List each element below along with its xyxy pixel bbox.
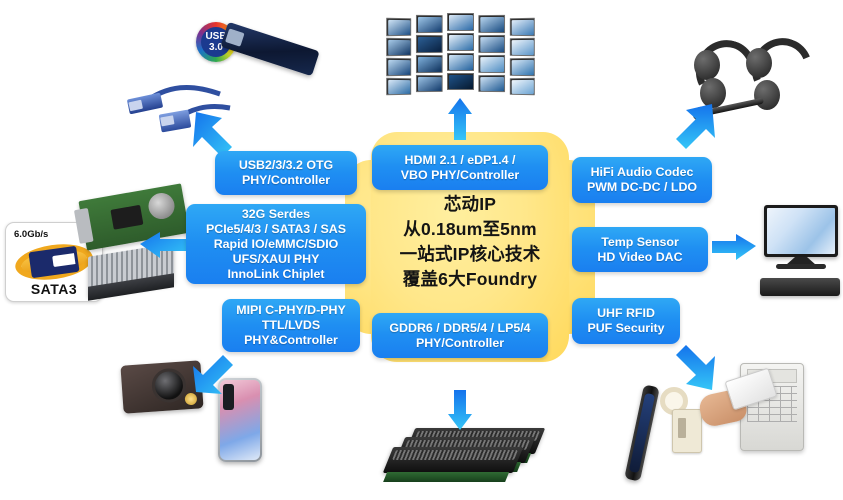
usb-ip-box[interactable]: USB2/3/3.2 OTG PHY/Controller <box>215 151 357 195</box>
serdes-ip-line-3: Rapid IO/eMMC/SDIO <box>206 237 346 252</box>
mipi-ip-line-3: PHY&Controller <box>236 333 345 348</box>
gddr-ip-box[interactable]: GDDR6 / DDR5/4 / LP5/4 PHY/Controller <box>372 313 548 358</box>
gddr-ip-line-1: GDDR6 / DDR5/4 / LP5/4 <box>389 321 530 336</box>
rfid-ip-line-1: UHF RFID <box>587 306 664 321</box>
sensor-ip-box[interactable]: Temp Sensor HD Video DAC <box>572 227 708 272</box>
arrow-up-display <box>448 98 472 140</box>
center-headline: 芯动IP 从0.18um至5nm 一站式IP核心技术 覆盖6大Foundry <box>345 192 595 292</box>
serdes-ip-line-2: PCIe5/4/3 / SATA3 / SAS <box>206 222 346 237</box>
center-line-2: 从0.18um至5nm <box>345 217 595 242</box>
hdmi-ip-line-2: VBO PHY/Controller <box>401 168 519 183</box>
usb-ip-line-2: PHY/Controller <box>239 173 333 188</box>
hdmi-ip-box[interactable]: HDMI 2.1 / eDP1.4 / VBO PHY/Controller <box>372 145 548 190</box>
rfid-ip-line-2: PUF Security <box>587 321 664 336</box>
serdes-ip-line-5: InnoLink Chiplet <box>206 267 346 282</box>
audio-ip-line-1: HiFi Audio Codec <box>587 165 697 180</box>
serdes-ip-line-4: UFS/XAUI PHY <box>206 252 346 267</box>
audio-ip-box[interactable]: HiFi Audio Codec PWM DC-DC / LDO <box>572 157 712 203</box>
rfid-ip-box[interactable]: UHF RFID PUF Security <box>572 298 680 344</box>
hdmi-ip-line-1: HDMI 2.1 / eDP1.4 / <box>401 153 519 168</box>
mipi-ip-line-1: MIPI C-PHY/D-PHY <box>236 303 345 318</box>
arrow-upright-audio <box>676 104 715 149</box>
arrow-right-video <box>712 234 756 260</box>
center-line-3: 一站式IP核心技术 <box>345 242 595 267</box>
gddr-ip-line-2: PHY/Controller <box>389 336 530 351</box>
arrow-downright-rfid <box>676 345 715 390</box>
arrow-downleft-mipi <box>193 355 233 394</box>
mipi-ip-line-2: TTL/LVDS <box>236 318 345 333</box>
usb-ip-line-1: USB2/3/3.2 OTG <box>239 158 333 173</box>
serdes-ip-line-1: 32G Serdes <box>206 207 346 222</box>
center-line-4: 覆盖6大Foundry <box>345 267 595 292</box>
sensor-ip-line-1: Temp Sensor <box>597 235 682 250</box>
arrow-down-memory <box>448 390 472 430</box>
serdes-ip-box[interactable]: 32G Serdes PCIe5/4/3 / SATA3 / SAS Rapid… <box>186 204 366 284</box>
arrow-left-serdes <box>140 232 186 258</box>
mipi-ip-box[interactable]: MIPI C-PHY/D-PHY TTL/LVDS PHY&Controller <box>222 299 360 352</box>
center-line-1: 芯动IP <box>345 192 595 217</box>
sensor-ip-line-2: HD Video DAC <box>597 250 682 265</box>
diagram-canvas: 芯动IP 从0.18um至5nm 一站式IP核心技术 覆盖6大Foundry U… <box>0 0 843 500</box>
audio-ip-line-2: PWM DC-DC / LDO <box>587 180 697 195</box>
